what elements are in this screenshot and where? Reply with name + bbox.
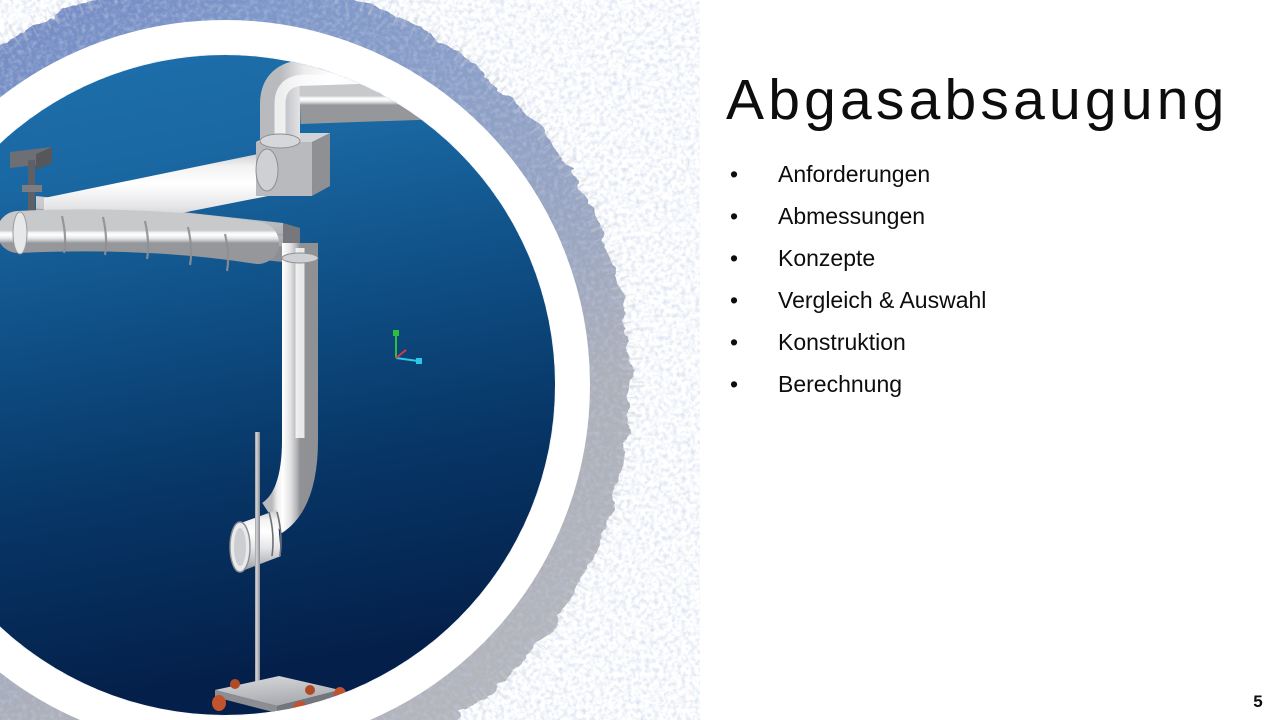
list-item[interactable]: • Konstruktion [722,321,1262,363]
stand-pole [255,432,260,694]
list-item-label: Vergleich & Auswahl [778,287,986,313]
bullet-icon: • [727,195,741,237]
list-item-label: Anforderungen [778,161,930,187]
bullet-icon: • [727,363,741,405]
bullet-icon: • [727,321,741,363]
page-title: Abgasabsaugung [726,68,1266,132]
list-item-label: Konzepte [778,245,875,271]
page-number: 5 [1253,692,1263,712]
presentation-slide: Abgasabsaugung • Anforderungen • Abmessu… [0,0,1280,720]
list-item[interactable]: • Vergleich & Auswahl [722,279,1262,321]
list-item-label: Abmessungen [778,203,925,229]
list-item[interactable]: • Anforderungen [722,153,1262,195]
bullet-icon: • [727,279,741,321]
bullet-icon: • [727,153,741,195]
list-item[interactable]: • Konzepte [722,237,1262,279]
slide-artwork [0,0,700,720]
list-item[interactable]: • Berechnung [722,363,1262,405]
slide-content: Abgasabsaugung • Anforderungen • Abmessu… [700,0,1280,720]
list-item[interactable]: • Abmessungen [722,195,1262,237]
brush-circle-graphic [0,0,700,720]
list-item-label: Konstruktion [778,329,906,355]
bullet-icon: • [727,237,741,279]
list-item-label: Berechnung [778,371,902,397]
agenda-list: • Anforderungen • Abmessungen • Konzepte… [722,153,1262,405]
